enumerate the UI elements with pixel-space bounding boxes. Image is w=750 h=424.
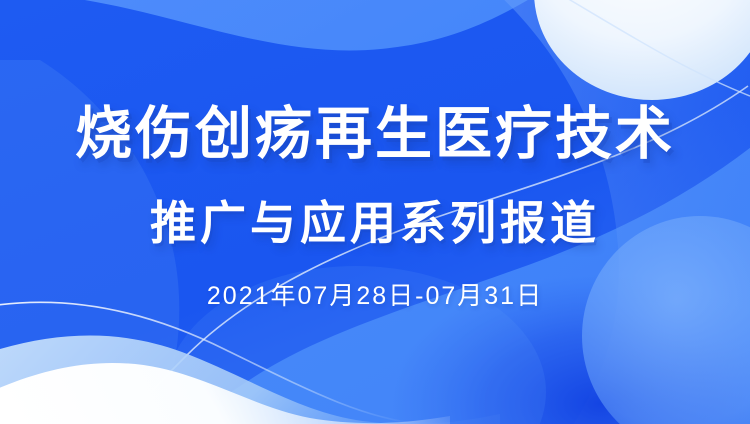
date-range-label: 2021年07月28日-07月31日	[0, 281, 750, 311]
banner-root: 烧伤创疡再生医疗技术 推广与应用系列报道 2021年07月28日-07月31日	[0, 0, 750, 424]
page-subtitle: 推广与应用系列报道	[0, 198, 750, 248]
banner-content: 烧伤创疡再生医疗技术 推广与应用系列报道 2021年07月28日-07月31日	[0, 0, 750, 424]
page-title: 烧伤创疡再生医疗技术	[0, 104, 750, 164]
